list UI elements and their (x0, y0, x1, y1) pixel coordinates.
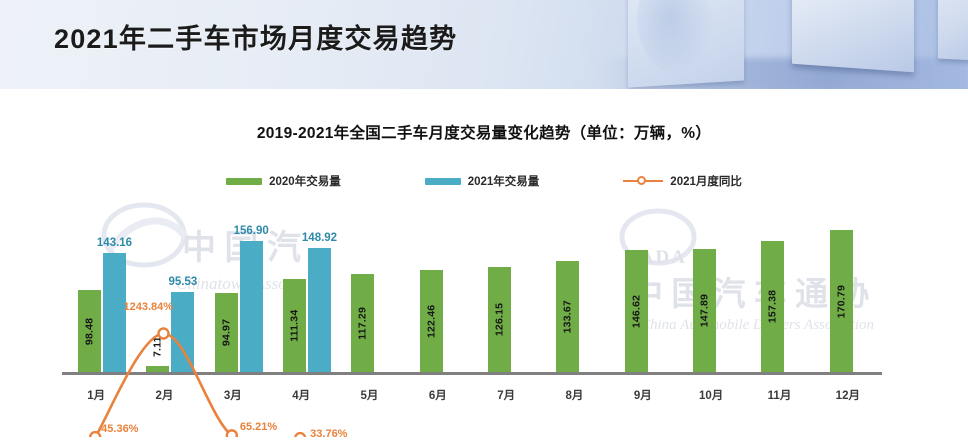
bar-label-2021-4: 148.92 (308, 232, 331, 244)
chart-group-9: 146.62 (609, 222, 677, 372)
bar-label-2021-2: 95.53 (171, 276, 194, 288)
bar-label-2020-9: 146.62 (625, 253, 648, 369)
chart-group-5: 117.29 (335, 222, 403, 372)
yoy-label-3: 65.21% (240, 421, 277, 433)
yoy-label-2: 1243.84% (124, 301, 174, 313)
chart-group-1: 98.48143.16 (62, 222, 130, 372)
bar-label-2020-7: 126.15 (488, 270, 511, 369)
yoy-marker-1[interactable] (90, 432, 100, 437)
x-tick-12: 12月 (814, 387, 882, 403)
x-tick-10: 10月 (677, 387, 745, 403)
chart-group-3: 94.97156.90 (199, 222, 267, 372)
bar-label-2020-8: 133.67 (556, 264, 579, 369)
chart-group-6: 122.46 (404, 222, 472, 372)
yoy-marker-4[interactable] (295, 433, 305, 437)
bar-label-2020-6: 122.46 (420, 273, 443, 369)
chart-plot-area: 中 国 汽 Chinatown Assoc. CADA 中 国 汽 车 通 协 … (0, 89, 968, 437)
yoy-marker-3[interactable] (227, 430, 237, 437)
x-tick-3: 3月 (199, 387, 267, 403)
yoy-label-4: 33.76% (310, 428, 347, 440)
chart-group-10: 147.89 (677, 222, 745, 372)
x-tick-2: 2月 (130, 387, 198, 403)
chart-group-8: 133.67 (540, 222, 608, 372)
bar-label-2020-5: 117.29 (351, 277, 374, 369)
bar-label-2020-2: 7.11 (146, 330, 169, 364)
bar-label-2021-1: 143.16 (103, 237, 126, 249)
bar-label-2021-3: 156.90 (240, 225, 263, 237)
bar-2021-4[interactable] (308, 248, 331, 372)
header-cube-middle-icon (792, 0, 914, 72)
bar-label-2020-12: 170.79 (830, 233, 853, 369)
header-cube-right-icon (938, 0, 968, 62)
bar-label-2020-11: 157.38 (761, 244, 784, 369)
chart-group-12: 170.79 (814, 222, 882, 372)
yoy-label-1: 45.36% (101, 423, 138, 435)
x-tick-7: 7月 (472, 387, 540, 403)
bar-label-2020-4: 111.34 (283, 282, 306, 369)
x-tick-4: 4月 (267, 387, 335, 403)
bar-label-2020-10: 147.89 (693, 252, 716, 369)
bar-label-2020-3: 94.97 (215, 296, 238, 369)
x-tick-11: 11月 (745, 387, 813, 403)
chart-card: 2019-2021年全国二手车月度交易量变化趋势（单位：万辆，%） 2020年交… (0, 89, 968, 437)
chart-group-11: 157.38 (745, 222, 813, 372)
bar-label-2020-1: 98.48 (78, 293, 101, 369)
screenshot-root: 2021年二手车市场月度交易趋势 2019-2021年全国二手车月度交易量变化趋… (0, 0, 968, 437)
x-tick-1: 1月 (62, 387, 130, 403)
x-tick-8: 8月 (540, 387, 608, 403)
chart-group-4: 111.34148.92 (267, 222, 335, 372)
chart-x-axis (62, 372, 882, 375)
bar-2021-2[interactable] (171, 292, 194, 372)
page-title: 2021年二手车市场月度交易趋势 (54, 17, 457, 56)
x-tick-5: 5月 (335, 387, 403, 403)
bar-2021-3[interactable] (240, 241, 263, 372)
chart-group-2: 7.1195.53 (130, 222, 198, 372)
page-header: 2021年二手车市场月度交易趋势 (0, 0, 968, 89)
x-tick-6: 6月 (404, 387, 472, 403)
x-tick-9: 9月 (609, 387, 677, 403)
header-cube-left-icon (628, 0, 744, 88)
chart-group-7: 126.15 (472, 222, 540, 372)
